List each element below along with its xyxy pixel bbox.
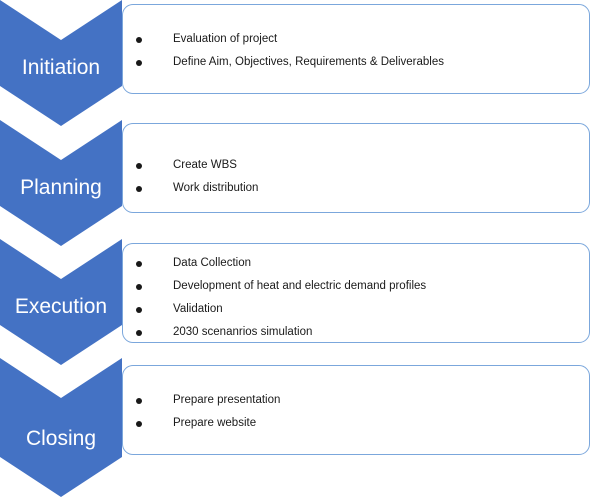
- phase-task-list: Data CollectionDevelopment of heat and e…: [123, 252, 589, 344]
- chevron-shape: [0, 0, 122, 126]
- bullet-icon: [136, 37, 142, 43]
- phase-task-list: Prepare presentationPrepare website: [123, 389, 589, 435]
- bullet-icon: [136, 261, 142, 267]
- phase-task-box: Data CollectionDevelopment of heat and e…: [122, 243, 590, 343]
- phase-task-list: Create WBSWork distribution: [123, 154, 589, 200]
- bullet-icon: [136, 284, 142, 290]
- phase-task-box: Prepare presentationPrepare website: [122, 365, 590, 455]
- task-label: Prepare presentation: [173, 389, 280, 412]
- chevron-shape: [0, 120, 122, 246]
- chevron-diagram-canvas: Evaluation of projectDefine Aim, Objecti…: [0, 0, 607, 497]
- bullet-icon: [136, 186, 142, 192]
- list-item: Validation: [123, 298, 589, 321]
- list-item: Development of heat and electric demand …: [123, 275, 589, 298]
- task-label: Work distribution: [173, 177, 258, 200]
- list-item: 2030 scenanrios simulation: [123, 321, 589, 344]
- phase-chevron[interactable]: [0, 239, 122, 365]
- list-item: Evaluation of project: [123, 28, 589, 51]
- task-label: 2030 scenanrios simulation: [173, 321, 312, 344]
- phase-chevron[interactable]: [0, 120, 122, 246]
- list-item: Create WBS: [123, 154, 589, 177]
- list-item: Define Aim, Objectives, Requirements & D…: [123, 51, 589, 74]
- list-item: Data Collection: [123, 252, 589, 275]
- task-label: Evaluation of project: [173, 28, 277, 51]
- phase-task-list: Evaluation of projectDefine Aim, Objecti…: [123, 28, 589, 74]
- chevron-shape: [0, 358, 122, 497]
- task-label: Create WBS: [173, 154, 237, 177]
- list-item: Prepare presentation: [123, 389, 589, 412]
- bullet-icon: [136, 421, 142, 427]
- phase-task-box: Evaluation of projectDefine Aim, Objecti…: [122, 4, 590, 94]
- list-item: Work distribution: [123, 177, 589, 200]
- bullet-icon: [136, 60, 142, 66]
- task-label: Validation: [173, 298, 223, 321]
- task-label: Prepare website: [173, 412, 256, 435]
- bullet-icon: [136, 163, 142, 169]
- task-label: Define Aim, Objectives, Requirements & D…: [173, 51, 444, 74]
- bullet-icon: [136, 330, 142, 336]
- bullet-icon: [136, 398, 142, 404]
- task-label: Development of heat and electric demand …: [173, 275, 426, 298]
- phase-chevron[interactable]: [0, 358, 122, 497]
- bullet-icon: [136, 307, 142, 313]
- list-item: Prepare website: [123, 412, 589, 435]
- phase-task-box: Create WBSWork distribution: [122, 123, 590, 213]
- chevron-shape: [0, 239, 122, 365]
- task-label: Data Collection: [173, 252, 251, 275]
- phase-chevron[interactable]: [0, 0, 122, 126]
